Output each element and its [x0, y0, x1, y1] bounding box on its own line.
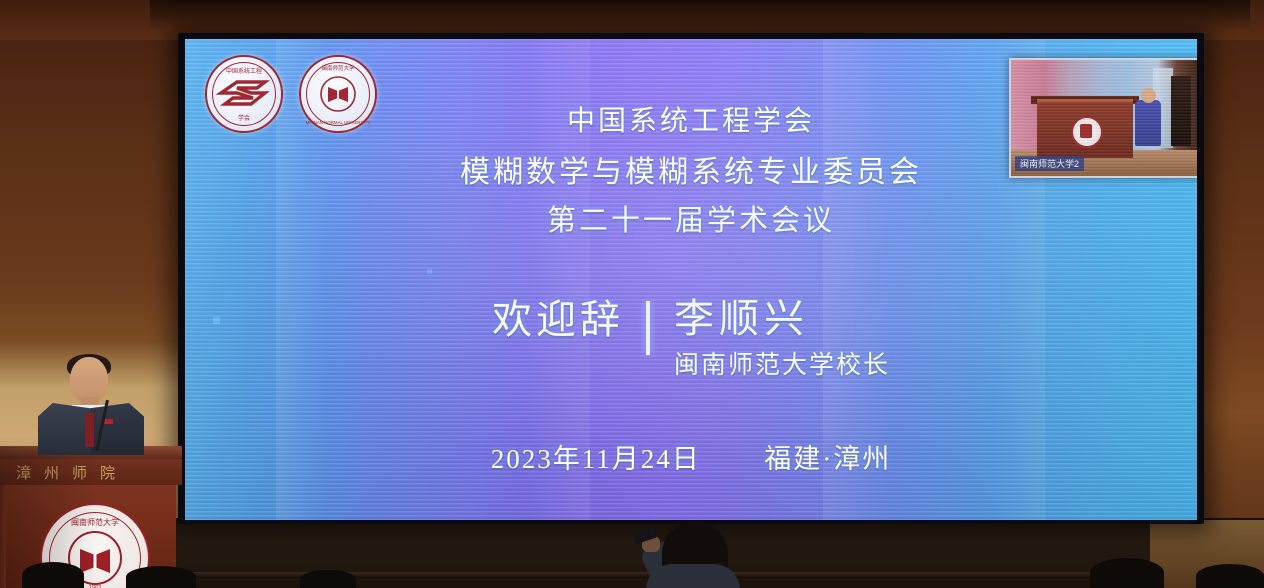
pip-crest-mark [1080, 124, 1092, 138]
svg-text:中国系统工程: 中国系统工程 [226, 67, 262, 75]
pip-video-feed[interactable]: 闽南师范大学2 [1009, 58, 1197, 178]
speaker-badge [104, 419, 113, 424]
slide-location: 福建·漳州 [764, 444, 891, 474]
slide-session-label: 欢迎辞 [492, 297, 646, 343]
slide-date-location: 2023年11月24日 福建·漳州 [185, 437, 1197, 476]
slide-speaker-block: 欢迎辞 李顺兴 闽南师范大学校长 [185, 297, 1197, 381]
ceiling-shadow [150, 0, 1250, 30]
speaker-figure [36, 357, 146, 453]
audience-silhouette [22, 562, 84, 588]
pip-speaker-head [1141, 88, 1156, 103]
svg-text:闽南师范大学: 闽南师范大学 [321, 64, 355, 72]
speaker-jacket-left [38, 403, 90, 455]
attendee-shoulders [646, 564, 740, 588]
projection-screen: 中国系统工程 学会 闽南师范大学 MINNAN NORMAL UNIVERSIT… [185, 39, 1197, 520]
speaker-tie [85, 413, 94, 447]
mnu-logo-mark: 闽南师范大学 MINNAN NORMAL UNIVERSITY [301, 57, 375, 131]
lectern: 漳州师院 闽南师范大学 MINNAN NORMAL UNIVERSITY 196… [0, 358, 188, 588]
lecture-hall-scene: 中国系统工程 学会 闽南师范大学 MINNAN NORMAL UNIVERSIT… [0, 0, 1264, 588]
svg-text:学会: 学会 [238, 114, 250, 122]
pip-dark-panel [1171, 76, 1191, 146]
minnan-normal-university-logo: 闽南师范大学 MINNAN NORMAL UNIVERSITY [299, 55, 377, 133]
slide-speaker-info: 李顺兴 闽南师范大学校长 [650, 297, 890, 381]
audience-silhouette [126, 566, 196, 588]
slide-conference: 第二十一届学术会议 [185, 197, 1197, 239]
ses-logo-mark: 中国系统工程 学会 [207, 57, 281, 131]
ses-logo: 中国系统工程 学会 [205, 55, 283, 133]
slide-speaker-name: 李顺兴 [674, 297, 890, 341]
slide-date: 2023年11月24日 [491, 444, 701, 474]
audience-silhouette [1090, 558, 1164, 588]
pip-speaker-body [1135, 100, 1161, 146]
audience-silhouette [1196, 564, 1264, 588]
pip-label: 闽南师范大学2 [1015, 156, 1084, 171]
pip-podium-crest [1071, 116, 1103, 148]
audience-silhouette [300, 570, 356, 588]
slide-speaker-title: 闽南师范大学校长 [674, 345, 890, 381]
slide-logos: 中国系统工程 学会 闽南师范大学 MINNAN NORMAL UNIVERSIT… [205, 55, 377, 133]
hall-right-wall [1196, 0, 1264, 588]
svg-text:MINNAN NORMAL UNIVERSITY: MINNAN NORMAL UNIVERSITY [306, 120, 371, 125]
attendee-photographing [640, 516, 740, 588]
